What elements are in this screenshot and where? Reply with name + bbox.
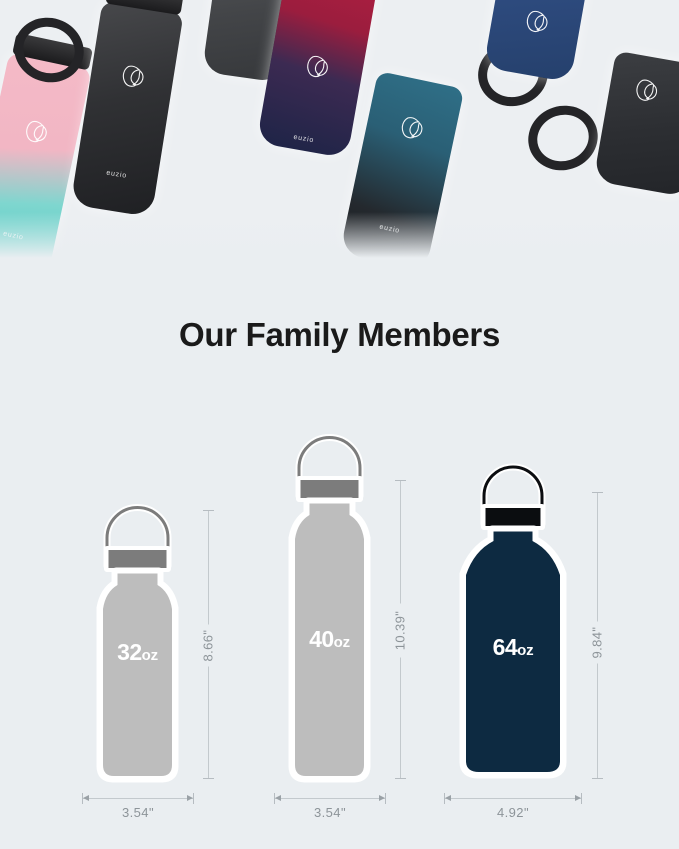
arrow-left-icon <box>83 795 89 801</box>
width-dimension-label-32oz: 3.54" <box>122 805 154 820</box>
page-title: Our Family Members <box>0 316 679 354</box>
bottle-illustration-64oz: 64oz <box>438 474 588 794</box>
cap-fill <box>109 550 167 568</box>
bottle-spec-40oz: 40oz 10.39" 3.54" <box>252 440 452 849</box>
bottle-illustration-32oz: 32oz <box>80 494 195 794</box>
brand-logo-icon <box>516 3 555 42</box>
brand-logo-icon <box>297 48 336 87</box>
brand-logo-icon <box>113 57 152 96</box>
bottle-spec-32oz: 32oz 8.66" 3.54" <box>60 440 260 849</box>
capacity-label-40oz: 40oz <box>309 626 350 653</box>
photo-bottle-black: euzio <box>70 1 183 217</box>
bottle-illustration-40oz: 40oz <box>272 454 387 794</box>
photo-bottle-blue <box>483 0 596 82</box>
height-dimension-label-64oz: 9.84" <box>587 622 608 664</box>
photo-fade-overlay <box>0 212 679 268</box>
bottle-body <box>70 1 183 217</box>
capacity-label-32oz: 32oz <box>117 639 158 666</box>
body-fill <box>103 574 172 777</box>
brand-logo-icon <box>391 109 431 149</box>
width-dimension-line-64oz: 4.92" <box>444 798 582 799</box>
cap-fill <box>301 480 359 498</box>
brand-logo-icon <box>626 72 665 111</box>
width-dimension-label-64oz: 4.92" <box>497 805 529 820</box>
width-dimension-line-32oz: 3.54" <box>82 798 194 799</box>
capacity-label-64oz: 64oz <box>493 634 534 661</box>
photo-bottle-charcoal <box>593 51 679 198</box>
height-dimension-label-32oz: 8.66" <box>198 625 219 667</box>
cap-fill <box>486 508 541 526</box>
arrow-left-icon <box>275 795 281 801</box>
brand-logo-icon <box>15 112 55 152</box>
width-dimension-label-40oz: 3.54" <box>314 805 346 820</box>
product-photo-band: euzio euzio euzio <box>0 0 679 268</box>
product-infographic-page: euzio euzio euzio <box>0 0 679 849</box>
bottle-spec-64oz: 64oz 9.84" 4.92" <box>432 440 652 849</box>
size-comparison-diagram: 32oz 8.66" 3.54" <box>0 440 679 849</box>
arrow-right-icon <box>575 795 581 801</box>
arrow-right-icon <box>187 795 193 801</box>
arrow-left-icon <box>445 795 451 801</box>
arrow-right-icon <box>379 795 385 801</box>
height-dimension-label-40oz: 10.39" <box>390 604 411 658</box>
width-dimension-line-40oz: 3.54" <box>274 798 386 799</box>
bottle-handle-ring-icon <box>520 97 606 179</box>
